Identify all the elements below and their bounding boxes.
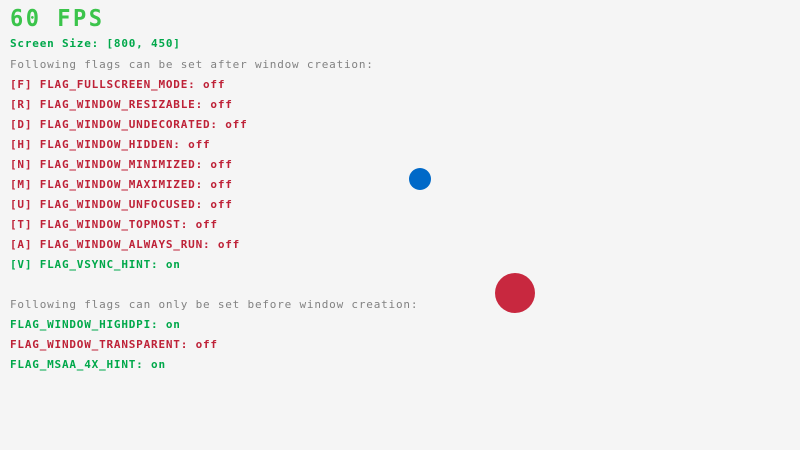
blue-ball-shape xyxy=(409,168,431,190)
flag-toggle-flag-window-resizable[interactable]: [R] FLAG_WINDOW_RESIZABLE: off xyxy=(10,99,233,110)
flag-toggle-flag-window-undecorated[interactable]: [D] FLAG_WINDOW_UNDECORATED: off xyxy=(10,119,248,130)
flag-static-flag-msaa-4x-hint: FLAG_MSAA_4X_HINT: on xyxy=(10,359,166,370)
screen-size-label: Screen Size: [800, 450] xyxy=(10,38,181,49)
flag-static-flag-window-transparent: FLAG_WINDOW_TRANSPARENT: off xyxy=(10,339,218,350)
raylib-window-canvas[interactable]: 60 FPS Screen Size: [800, 450] Following… xyxy=(0,0,800,450)
flag-toggle-flag-vsync-hint[interactable]: [V] FLAG_VSYNC_HINT: on xyxy=(10,259,181,270)
flag-toggle-flag-window-minimized[interactable]: [N] FLAG_WINDOW_MINIMIZED: off xyxy=(10,159,233,170)
fps-counter: 60 FPS xyxy=(10,8,104,31)
flag-toggle-flag-window-topmost[interactable]: [T] FLAG_WINDOW_TOPMOST: off xyxy=(10,219,218,230)
flag-toggle-flag-window-unfocused[interactable]: [U] FLAG_WINDOW_UNFOCUSED: off xyxy=(10,199,233,210)
flag-toggle-flag-window-maximized[interactable]: [M] FLAG_WINDOW_MAXIMIZED: off xyxy=(10,179,233,190)
flag-static-flag-window-highdpi: FLAG_WINDOW_HIGHDPI: on xyxy=(10,319,181,330)
flag-toggle-flag-window-always-run[interactable]: [A] FLAG_WINDOW_ALWAYS_RUN: off xyxy=(10,239,240,250)
startup-flags-heading: Following flags can only be set before w… xyxy=(10,299,418,310)
runtime-flags-heading: Following flags can be set after window … xyxy=(10,59,374,70)
flag-toggle-flag-window-hidden[interactable]: [H] FLAG_WINDOW_HIDDEN: off xyxy=(10,139,210,150)
red-ball-shape xyxy=(495,273,535,313)
flag-toggle-flag-fullscreen-mode[interactable]: [F] FLAG_FULLSCREEN_MODE: off xyxy=(10,79,225,90)
